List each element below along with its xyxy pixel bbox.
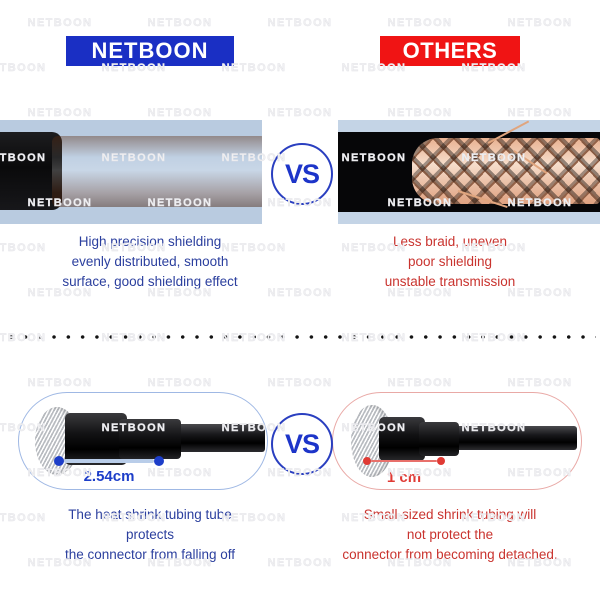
caption-line: surface, good shielding effect <box>0 272 300 292</box>
caption-line: the connector from falling off <box>0 545 300 565</box>
measure-endpoint-dot <box>154 456 164 466</box>
vs-badge-label: VS <box>285 431 319 458</box>
vs-badge-label: VS <box>285 161 319 188</box>
caption-line: protects <box>0 525 300 545</box>
header-right-cell: OTHERS <box>300 33 600 69</box>
measurement-2-54cm: 2.54cm <box>54 456 164 466</box>
header-left-cell: NETBOON <box>0 33 300 69</box>
caption-line: unstable transmission <box>300 272 600 292</box>
measure-line <box>64 459 154 463</box>
others-badge-label: OTHERS <box>403 40 498 62</box>
caption-line: connector from becoming detached. <box>300 545 600 565</box>
cable-shape <box>169 424 265 452</box>
cable-shape <box>451 426 577 450</box>
measurement-1cm: 1 cm <box>363 457 445 465</box>
measurement-label: 1 cm <box>363 469 445 486</box>
netboon-badge-label: NETBOON <box>92 40 209 62</box>
caption-line: poor shielding <box>300 252 600 272</box>
netboon-shield-photo <box>0 120 262 224</box>
measure-line <box>371 460 437 462</box>
header-badges: NETBOON OTHERS <box>0 33 600 69</box>
caption-line: evenly distributed, smooth <box>0 252 300 272</box>
tight-braid-shading <box>52 136 262 207</box>
others-shield-photo <box>338 120 600 224</box>
heat-shrink-boot-shape <box>419 422 459 456</box>
caption-line: Less braid, uneven <box>300 232 600 252</box>
netboon-connector-caption: The heat shrink tubing tube protects the… <box>0 505 300 565</box>
caption-line: High precision shielding <box>0 232 300 252</box>
netboon-badge: NETBOON <box>66 36 234 66</box>
measure-endpoint-dot <box>54 456 64 466</box>
measure-endpoint-dot <box>363 457 371 465</box>
caption-line: not protect the <box>300 525 600 545</box>
measurement-label: 2.54cm <box>54 468 164 485</box>
vs-badge-connector: VS <box>271 413 333 475</box>
vs-badge-shielding: VS <box>271 143 333 205</box>
others-connector-caption: Small-sized shrink tubing will not prote… <box>300 505 600 565</box>
heat-shrink-boot-shape <box>119 419 181 459</box>
infographic-page: NETBOON OTHERS VS High precision shi <box>0 0 600 600</box>
dotted-divider <box>4 334 596 340</box>
netboon-shield-caption: High precision shielding evenly distribu… <box>0 232 300 292</box>
caption-line: Small-sized shrink tubing will <box>300 505 600 525</box>
loose-braid-gaps <box>412 138 600 204</box>
measure-endpoint-dot <box>437 457 445 465</box>
others-shield-caption: Less braid, uneven poor shielding unstab… <box>300 232 600 292</box>
caption-line: The heat shrink tubing tube <box>0 505 300 525</box>
others-badge: OTHERS <box>380 36 520 66</box>
